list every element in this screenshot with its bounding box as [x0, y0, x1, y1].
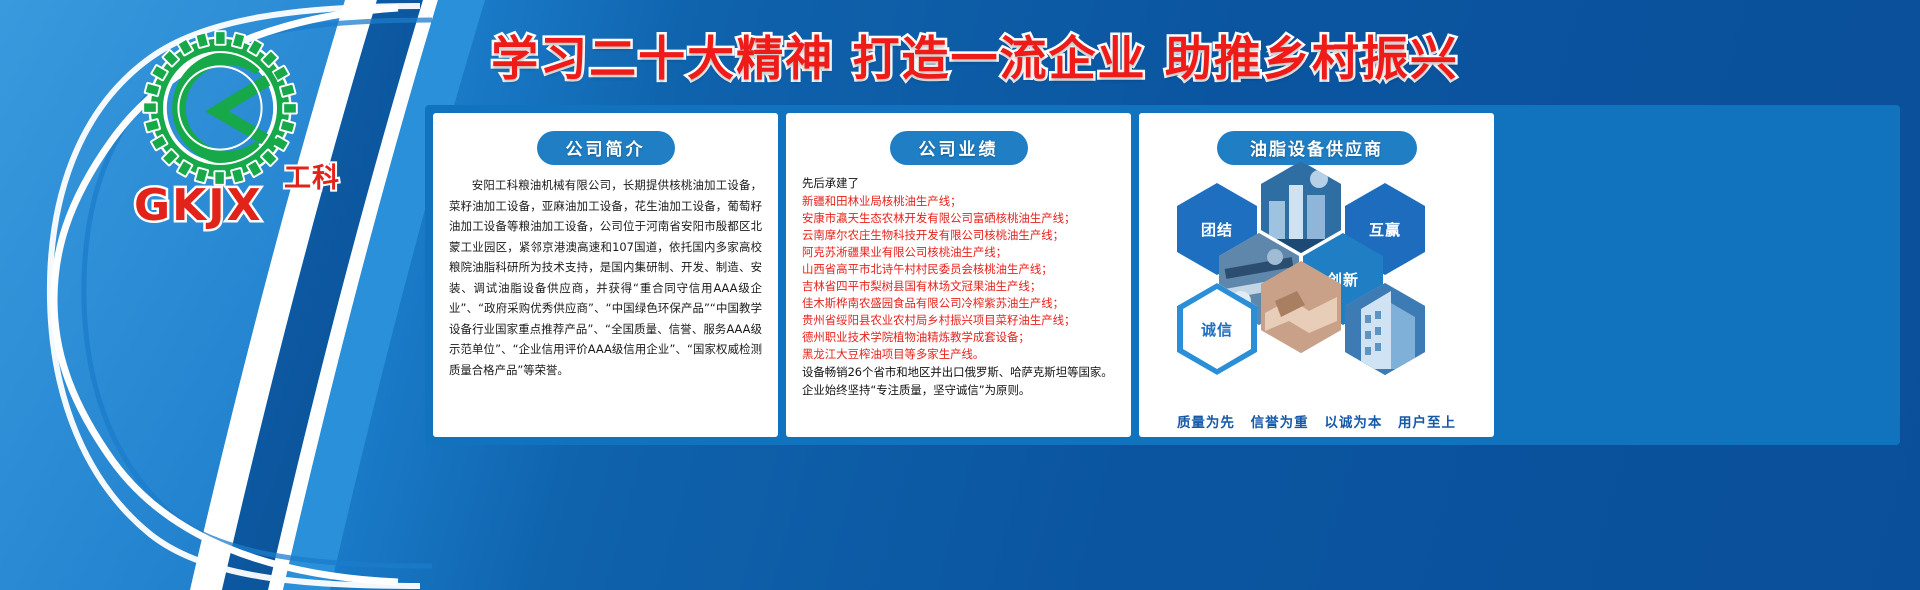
list-item: 黑龙江大豆榨油项目等多家生产线。 — [802, 346, 1115, 363]
panel-company-achievements: 公司业绩 先后承建了 新疆和田林业局核桃油生产线； 安康市瀛天生态农林开发有限公… — [786, 113, 1131, 437]
company-profile-body: 安阳工科粮油机械有限公司，长期提供核桃油加工设备，菜籽油加工设备，亚麻油加工设备… — [449, 175, 762, 380]
panel-company-profile: 公司简介 安阳工科粮油机械有限公司，长期提供核桃油加工设备，菜籽油加工设备，亚麻… — [433, 113, 778, 437]
list-item: 阿克苏淅疆果业有限公司核桃油生产线； — [802, 244, 1115, 261]
poster-title: 学习二十大精神 打造一流企业 助推乡村振兴 — [415, 14, 1535, 94]
achievements-intro: 先后承建了 — [802, 175, 1115, 192]
slogan-part-2: 信誉为重 — [1251, 415, 1309, 431]
hexagon-photo-factory — [1261, 161, 1341, 253]
slogan-part-4: 用户至上 — [1398, 415, 1456, 431]
factory-photo-icon — [1261, 161, 1341, 253]
panel-header-company-achievements: 公司业绩 — [890, 131, 1028, 165]
list-item: 山西省高平市北诗午村村民委员会核桃油生产线； — [802, 261, 1115, 278]
list-item: 新疆和田林业局核桃油生产线； — [802, 193, 1115, 210]
achievements-list: 新疆和田林业局核桃油生产线； 安康市瀛天生态农林开发有限公司富硒核桃油生产线； … — [802, 193, 1115, 363]
poster-canvas: 工科 GKJX 学习二十大精神 打造一流企业 助推乡村振兴 公司简介 安阳工科粮… — [0, 0, 1920, 590]
panel-header-company-profile: 公司简介 — [537, 131, 675, 165]
list-item: 贵州省绥阳县农业农村局乡村振兴项目菜籽油生产线； — [802, 312, 1115, 329]
logo-name-en: GKJX — [134, 180, 263, 231]
hexagon-cluster: 团结 互赢 — [1155, 175, 1478, 375]
hexagon-label: 团结 — [1201, 219, 1233, 240]
logo-name-cn: 工科 — [284, 156, 340, 195]
list-item: 安康市瀛天生态农林开发有限公司富硒核桃油生产线； — [802, 210, 1115, 227]
achievements-footer-1: 设备畅销26个省市和地区并出口俄罗斯、哈萨克斯坦等国家。 — [802, 364, 1115, 381]
panel-header-oil-equipment-supplier: 油脂设备供应商 — [1217, 131, 1417, 165]
achievements-footer-2: 企业始终坚持“专注质量，坚守诚信”为原则。 — [802, 382, 1115, 399]
supplier-slogan: 质量为先 信誉为重 以诚为本 用户至上 — [1139, 411, 1494, 431]
slogan-part-1: 质量为先 — [1177, 415, 1235, 431]
list-item: 云南摩尔农庄生物科技开发有限公司核桃油生产线； — [802, 227, 1115, 244]
list-item: 德州职业技术学院植物油精炼教学成套设备； — [802, 329, 1115, 346]
slogan-part-3: 以诚为本 — [1324, 415, 1382, 431]
hexagon-label: 诚信 — [1201, 319, 1233, 340]
list-item: 吉林省四平市梨树县国有林场文冠果油生产线； — [802, 278, 1115, 295]
gear-logo-icon — [140, 28, 300, 188]
list-item: 佳木斯桦南农盛园食品有限公司冷榨紫苏油生产线； — [802, 295, 1115, 312]
hexagon-label: 互赢 — [1369, 219, 1401, 240]
panel-oil-equipment-supplier: 油脂设备供应商 团结 互赢 — [1139, 113, 1494, 437]
content-board: 公司简介 安阳工科粮油机械有限公司，长期提供核桃油加工设备，菜籽油加工设备，亚麻… — [425, 105, 1900, 445]
company-logo: 工科 GKJX — [118, 28, 348, 213]
